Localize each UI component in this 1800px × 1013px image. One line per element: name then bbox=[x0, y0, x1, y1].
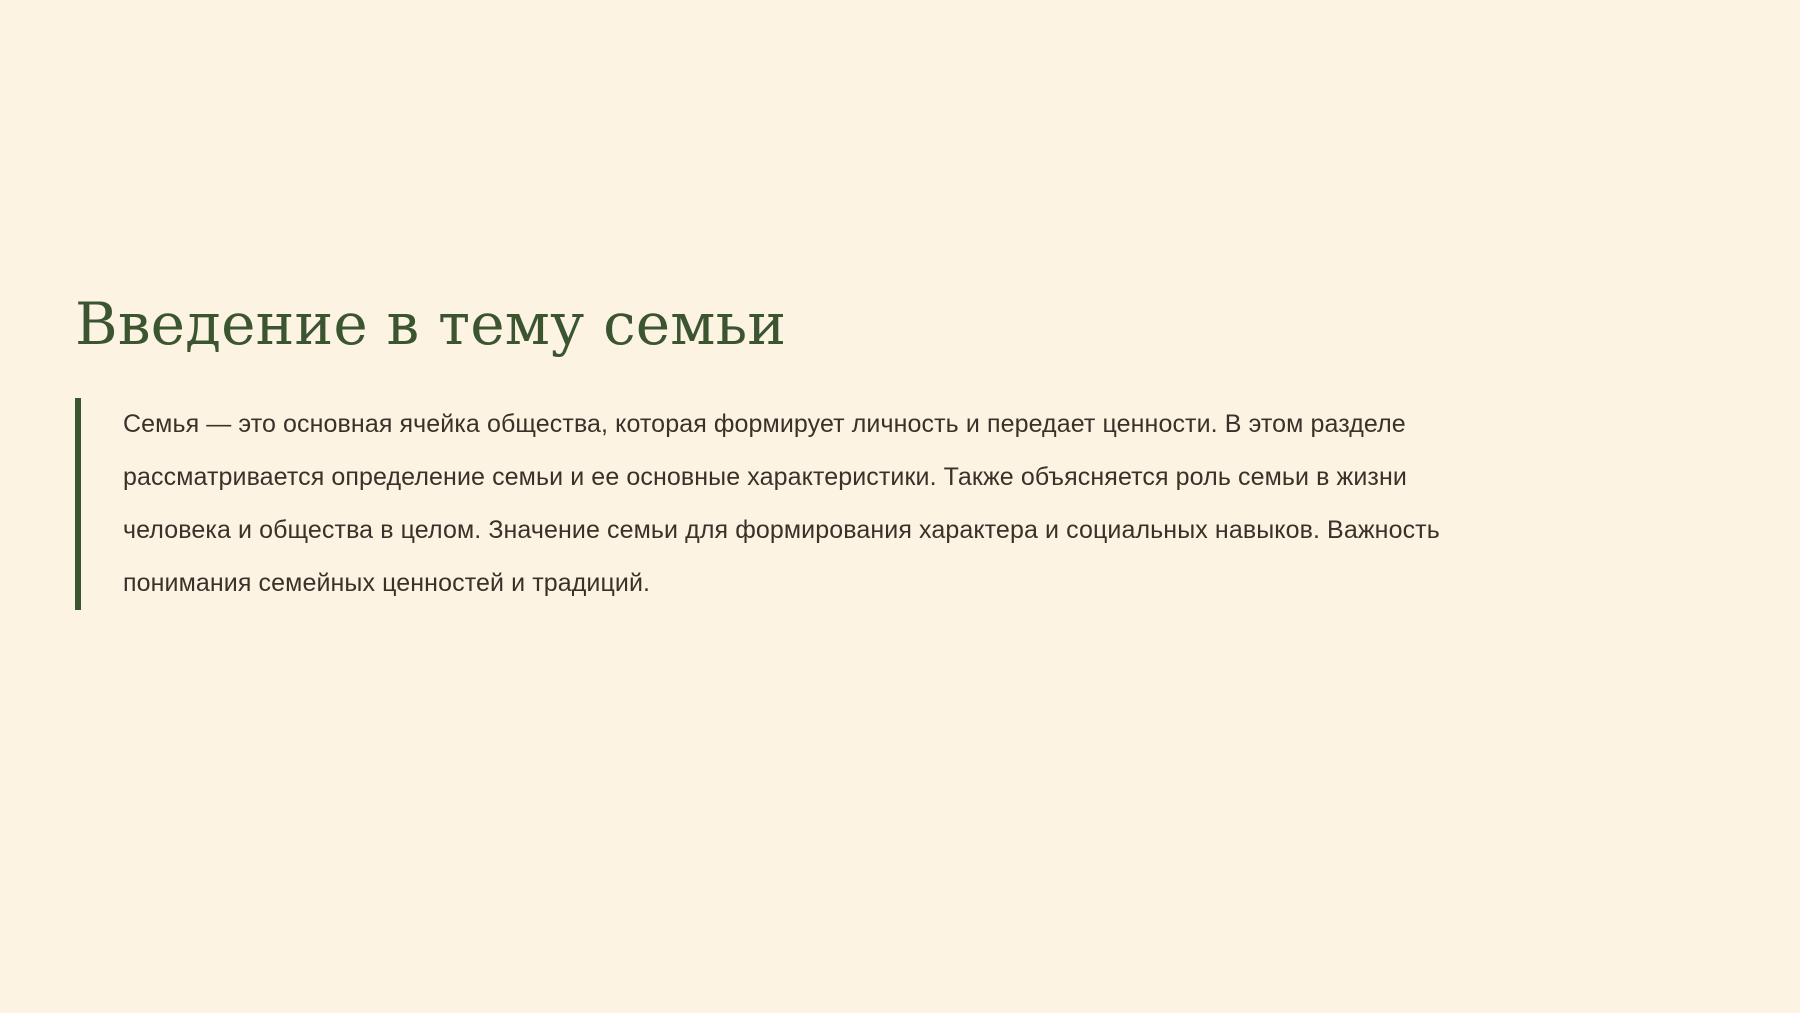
page-title: Введение в тему семьи bbox=[75, 290, 1505, 358]
body-paragraph: Семья — это основная ячейка общества, ко… bbox=[81, 398, 1498, 610]
slide-content-block: Введение в тему семьи Семья — это основн… bbox=[75, 290, 1505, 610]
body-callout: Семья — это основная ячейка общества, ко… bbox=[75, 398, 1505, 610]
slide-canvas: Введение в тему семьи Семья — это основн… bbox=[0, 0, 1800, 1013]
